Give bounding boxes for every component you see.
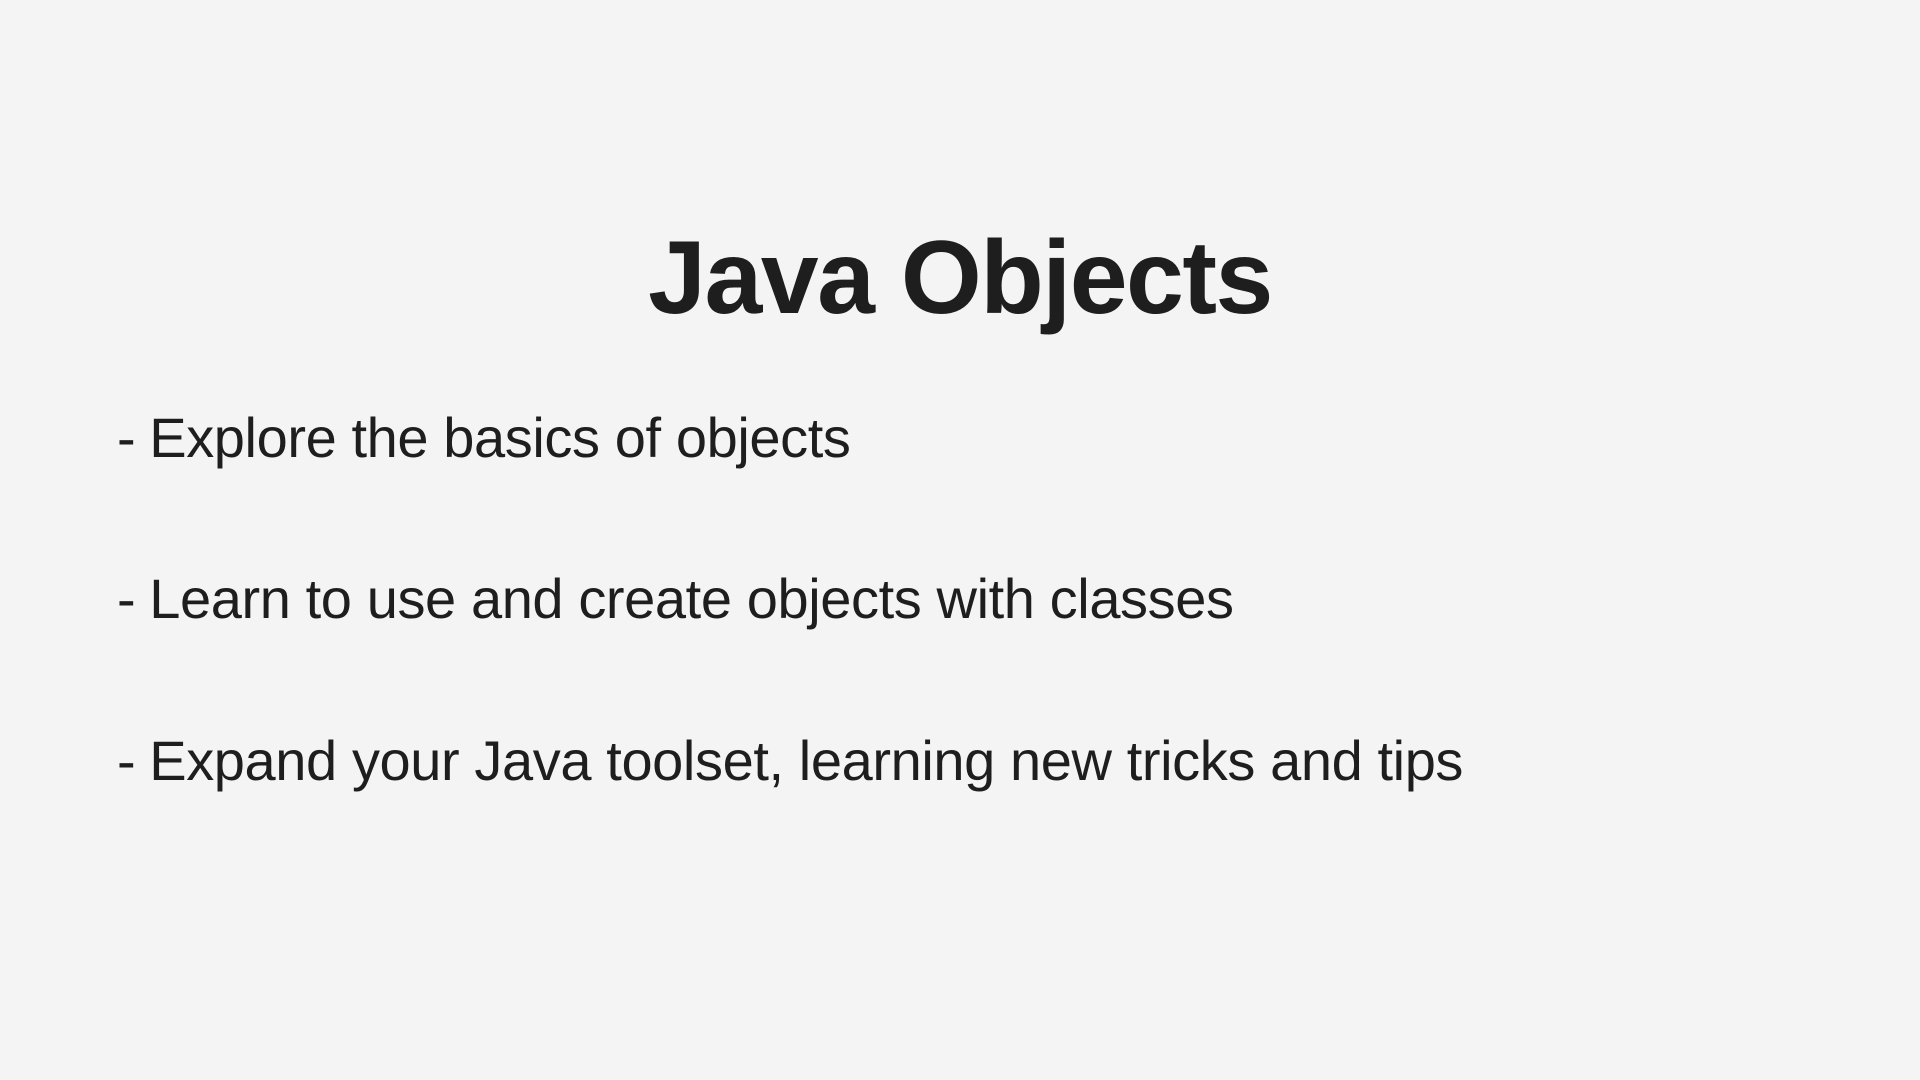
bullet-dash-marker: - <box>117 569 135 629</box>
bullet-dash-marker: - <box>117 408 135 468</box>
list-item-label: Expand your Java toolset, learning new t… <box>149 731 1463 791</box>
bullet-list: - Explore the basics of objects - Learn … <box>117 408 1857 791</box>
list-item-label: Learn to use and create objects with cla… <box>149 569 1233 629</box>
list-item: - Expand your Java toolset, learning new… <box>117 731 1857 791</box>
list-item: - Explore the basics of objects <box>117 408 1857 468</box>
list-item: - Learn to use and create objects with c… <box>117 569 1857 629</box>
list-item-label: Explore the basics of objects <box>149 408 850 468</box>
bullet-dash-marker: - <box>117 731 135 791</box>
page-title: Java Objects <box>0 220 1920 336</box>
presentation-slide: Java Objects - Explore the basics of obj… <box>0 0 1920 1080</box>
